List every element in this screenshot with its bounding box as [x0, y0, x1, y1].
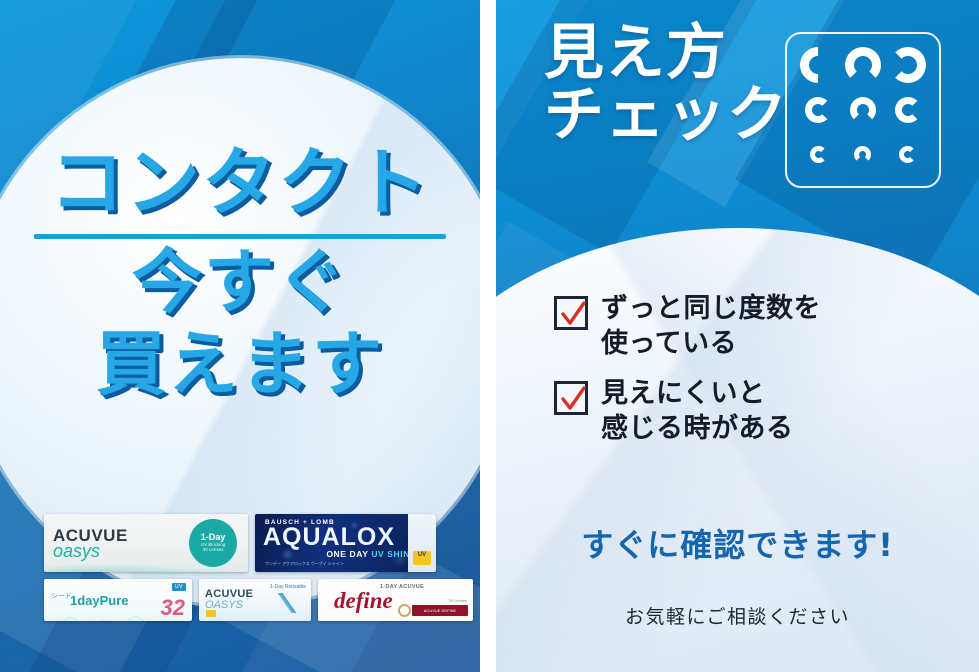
checklist-item-1-line-2: 使っている — [601, 327, 821, 362]
eye-chart-cell — [850, 97, 876, 123]
product-box-define[interactable]: 1-DAY ACUVUE define 30 Lenses ACUVUE DEF… — [318, 579, 473, 621]
check-mark-icon — [559, 385, 587, 415]
decor-ring — [398, 604, 411, 617]
product-fineprint: 30 Lenses — [449, 598, 467, 603]
checklist-item-2-line-2: 感じる時がある — [601, 412, 794, 447]
landolt-c-ring — [895, 97, 921, 123]
headline-line-3: 買えます — [0, 329, 480, 399]
landolt-c-ring — [845, 47, 881, 83]
checklist-item-1[interactable]: ずっと同じ度数を 使っている — [554, 292, 954, 361]
headline-divider — [34, 234, 446, 239]
badge-sub-2: 30 Lenses — [203, 548, 224, 553]
checkbox-checked[interactable] — [554, 296, 588, 330]
decor-badge — [206, 610, 216, 617]
eye-chart-cell — [805, 97, 831, 123]
checklist-item-2-line-1: 見えにくいと — [601, 377, 794, 412]
landolt-c-ring — [793, 40, 844, 91]
landolt-c-ring — [890, 47, 926, 83]
product-box-1daypure[interactable]: シード UV 1dayPure 32 — [44, 579, 192, 621]
left-headline: コンタクト 今すぐ 買えます — [0, 146, 480, 399]
tagline-a: ONE DAY — [326, 549, 371, 559]
headline-line-1: コンタクト — [0, 146, 480, 220]
call-to-action-text: すぐに確認できます! — [496, 520, 979, 566]
product-bar: ACUVUE DEFINE — [412, 605, 468, 616]
left-panel: コンタクト 今すぐ 買えます ACUVUE oasys 1-Day UV Blo… — [0, 0, 480, 672]
right-panel: 見え方 チェック — [496, 0, 979, 672]
checklist-item-2-text: 見えにくいと 感じる時がある — [601, 377, 794, 446]
product-count: 32 — [161, 595, 185, 621]
eye-chart-cell — [800, 47, 836, 83]
product-name-a: 1day — [70, 593, 100, 608]
checklist-item-1-line-1: ずっと同じ度数を — [601, 292, 821, 327]
product-box-aqualox[interactable]: BAUSCH + LOMB AQUALOX ONE DAY UV SHIN ワン… — [255, 514, 436, 572]
product-row-bottom: シード UV 1dayPure 32 1-Day Reusable ACUVUE… — [44, 579, 436, 621]
product-side-panel: UV — [408, 514, 436, 572]
consult-note-text: お気軽にご相談ください — [496, 602, 979, 629]
landolt-c-ring — [850, 97, 876, 123]
poster-stage: コンタクト 今すぐ 買えます ACUVUE oasys 1-Day UV Blo… — [0, 0, 979, 672]
check-mark-icon — [559, 300, 587, 330]
eye-chart-cell — [854, 146, 871, 163]
eye-chart-cell — [810, 146, 827, 163]
tagline-b: UV SHIN — [371, 549, 410, 559]
product-row-top: ACUVUE oasys 1-Day UV Blocking 30 Lenses… — [44, 514, 436, 572]
landolt-c-ring — [854, 146, 871, 163]
checklist-item-2[interactable]: 見えにくいと 感じる時がある — [554, 377, 954, 446]
headline-line-2: 今すぐ — [0, 247, 480, 317]
eye-chart-cell — [845, 47, 881, 83]
landolt-c-ring — [805, 97, 831, 123]
product-subbrand: OASYS — [199, 600, 311, 611]
product-box-acuvue-oasys-small[interactable]: 1-Day Reusable ACUVUE OASYS — [199, 579, 311, 621]
landolt-c-ring — [810, 146, 827, 163]
product-badge: 1-Day UV Blocking 30 Lenses — [189, 519, 237, 567]
panel-gutter — [480, 0, 496, 672]
landolt-c-ring — [899, 146, 916, 163]
right-header: 見え方 チェック — [544, 22, 788, 147]
checklist-item-1-text: ずっと同じ度数を 使っている — [601, 292, 821, 361]
eye-chart-cell — [899, 146, 916, 163]
eye-chart-cell — [890, 47, 926, 83]
right-title-line-1: 見え方 — [544, 22, 788, 84]
eye-chart-cell — [895, 97, 921, 123]
checkbox-checked[interactable] — [554, 381, 588, 415]
symptom-checklist: ずっと同じ度数を 使っている 見えにくいと 感じる時がある — [554, 292, 954, 462]
product-box-acuvue-oasys[interactable]: ACUVUE oasys 1-Day UV Blocking 30 Lenses — [44, 514, 248, 572]
right-title-line-2: チェック — [544, 84, 788, 146]
product-name-b: Pure — [100, 593, 129, 608]
product-bar-label: ACUVUE DEFINE — [412, 605, 468, 616]
product-gallery: ACUVUE oasys 1-Day UV Blocking 30 Lenses… — [44, 514, 436, 628]
uv-tag: UV — [413, 551, 431, 565]
landolt-c-eye-chart-icon — [785, 32, 941, 188]
